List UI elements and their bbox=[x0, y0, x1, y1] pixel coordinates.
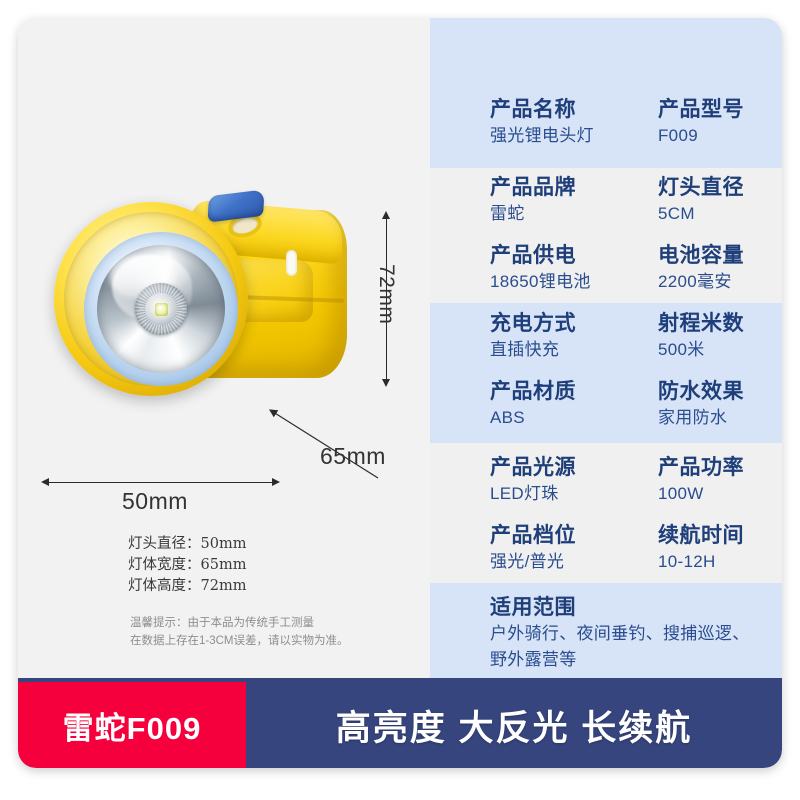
spec-label: 产品档位 bbox=[490, 522, 600, 549]
bottom-banner: 雷蛇F009 高亮度 大反光 长续航 bbox=[18, 678, 782, 768]
spec-rows: 产品名称 强光锂电头灯 产品型号 F009 产品品牌 雷蛇 灯头直径 bbox=[430, 18, 782, 678]
spec-value: 100W bbox=[658, 481, 782, 506]
spec-cell: 产品材质 ABS bbox=[430, 378, 600, 430]
product-photo-pane: 72mm 65mm 50mm 灯头直径：50mm 灯体 bbox=[18, 18, 430, 678]
measurement-item: 灯体高度：72mm bbox=[128, 576, 246, 597]
brand-model-text: 雷蛇F009 bbox=[63, 703, 202, 748]
flashlight-product-image bbox=[32, 188, 372, 418]
disclaimer-line-1: 温馨提示：由于本品为传统手工测量 bbox=[130, 614, 349, 632]
spec-value: 500米 bbox=[658, 337, 782, 362]
flashlight-lens-ring bbox=[84, 232, 238, 386]
measurement-label: 灯体宽度： bbox=[128, 557, 201, 573]
spec-cell: 防水效果 家用防水 bbox=[600, 378, 782, 430]
spec-label: 产品型号 bbox=[658, 96, 782, 123]
spec-cell: 射程米数 500米 bbox=[600, 310, 782, 362]
measurement-disclaimer: 温馨提示：由于本品为传统手工测量 在数据上存在1-3CM误差，请以实物为准。 bbox=[130, 614, 349, 650]
spec-label: 续航时间 bbox=[658, 522, 782, 549]
spec-label: 产品品牌 bbox=[490, 174, 600, 201]
spec-value: 强光/普光 bbox=[490, 549, 600, 574]
measurement-value: 72mm bbox=[201, 578, 247, 594]
spec-value: 18650锂电池 bbox=[490, 269, 600, 294]
spec-value: 2200毫安 bbox=[658, 269, 782, 294]
spec-label: 适用范围 bbox=[490, 594, 782, 621]
spec-cell: 充电方式 直插快充 bbox=[430, 310, 600, 362]
spec-row: 产品品牌 雷蛇 灯头直径 5CM bbox=[430, 174, 782, 226]
spec-value: 户外骑行、夜间垂钓、搜捕巡逻、野外露营等 bbox=[490, 621, 758, 673]
led-emitter bbox=[155, 303, 168, 316]
measurement-item: 灯头直径：50mm bbox=[128, 534, 246, 555]
dimension-label-depth: 65mm bbox=[320, 443, 386, 470]
product-card: 72mm 65mm 50mm 灯头直径：50mm 灯体 bbox=[18, 18, 782, 768]
spec-value: 强光锂电头灯 bbox=[490, 123, 600, 148]
spec-cell: 产品品牌 雷蛇 bbox=[430, 174, 600, 226]
dimension-label-height: 72mm bbox=[374, 264, 398, 324]
spec-label: 产品供电 bbox=[490, 242, 600, 269]
spec-cell: 产品供电 18650锂电池 bbox=[430, 242, 600, 294]
spec-label: 产品材质 bbox=[490, 378, 600, 405]
spec-cell: 产品功率 100W bbox=[600, 454, 782, 506]
spec-label: 产品功率 bbox=[658, 454, 782, 481]
flashlight-reflector bbox=[97, 245, 225, 373]
spec-value: 家用防水 bbox=[658, 405, 782, 430]
flashlight-outer-ring bbox=[64, 212, 238, 386]
spec-row: 产品供电 18650锂电池 电池容量 2200毫安 bbox=[430, 242, 782, 294]
spec-row: 充电方式 直插快充 射程米数 500米 bbox=[430, 310, 782, 362]
spec-label: 灯头直径 bbox=[658, 174, 782, 201]
spec-cell: 产品档位 强光/普光 bbox=[430, 522, 600, 574]
spec-cell: 续航时间 10-12H bbox=[600, 522, 782, 574]
spec-panel: 产品名称 强光锂电头灯 产品型号 F009 产品品牌 雷蛇 灯头直径 bbox=[430, 18, 782, 678]
spec-value: 10-12H bbox=[658, 549, 782, 574]
disclaimer-line-2: 在数据上存在1-3CM误差，请以实物为准。 bbox=[130, 632, 349, 650]
spec-label: 防水效果 bbox=[658, 378, 782, 405]
spec-label: 充电方式 bbox=[490, 310, 600, 337]
flashlight-strap-slot bbox=[286, 250, 297, 276]
spec-label: 电池容量 bbox=[658, 242, 782, 269]
measurement-label: 灯体高度： bbox=[128, 578, 201, 594]
spec-value: 5CM bbox=[658, 201, 782, 226]
spec-cell: 灯头直径 5CM bbox=[600, 174, 782, 226]
measurement-item: 灯体宽度：65mm bbox=[128, 555, 246, 576]
spec-row-scope: 适用范围 户外骑行、夜间垂钓、搜捕巡逻、野外露营等 bbox=[430, 594, 782, 673]
product-spec-page: 72mm 65mm 50mm 灯头直径：50mm 灯体 bbox=[0, 0, 800, 800]
spec-cell: 产品名称 强光锂电头灯 bbox=[430, 96, 600, 148]
spec-row: 产品光源 LED灯珠 产品功率 100W bbox=[430, 454, 782, 506]
spec-cell: 电池容量 2200毫安 bbox=[600, 242, 782, 294]
measurement-label: 灯头直径： bbox=[128, 536, 201, 552]
dimension-label-width: 50mm bbox=[122, 488, 188, 515]
spec-row: 产品档位 强光/普光 续航时间 10-12H bbox=[430, 522, 782, 574]
spec-value: ABS bbox=[490, 405, 600, 430]
slogan-text: 高亮度 大反光 长续航 bbox=[246, 682, 782, 768]
spec-cell: 产品型号 F009 bbox=[600, 96, 782, 148]
spec-value: 直插快充 bbox=[490, 337, 600, 362]
spec-row: 产品名称 强光锂电头灯 产品型号 F009 bbox=[430, 96, 782, 148]
dimension-line-width bbox=[48, 482, 273, 483]
brand-model-badge: 雷蛇F009 bbox=[18, 682, 246, 768]
measurement-value: 50mm bbox=[201, 536, 247, 552]
led-inner-ring bbox=[145, 293, 177, 325]
led-bezel-ring bbox=[135, 283, 187, 335]
spec-label: 产品光源 bbox=[490, 454, 600, 481]
spec-value: F009 bbox=[658, 123, 782, 148]
measurement-list: 灯头直径：50mm 灯体宽度：65mm 灯体高度：72mm bbox=[128, 534, 246, 597]
flashlight-head-bezel bbox=[54, 202, 248, 396]
spec-label: 产品名称 bbox=[490, 96, 600, 123]
spec-label: 射程米数 bbox=[658, 310, 782, 337]
spec-row: 产品材质 ABS 防水效果 家用防水 bbox=[430, 378, 782, 430]
spec-value: LED灯珠 bbox=[490, 481, 600, 506]
spec-value: 雷蛇 bbox=[490, 201, 600, 226]
spec-cell: 产品光源 LED灯珠 bbox=[430, 454, 600, 506]
measurement-value: 65mm bbox=[201, 557, 247, 573]
